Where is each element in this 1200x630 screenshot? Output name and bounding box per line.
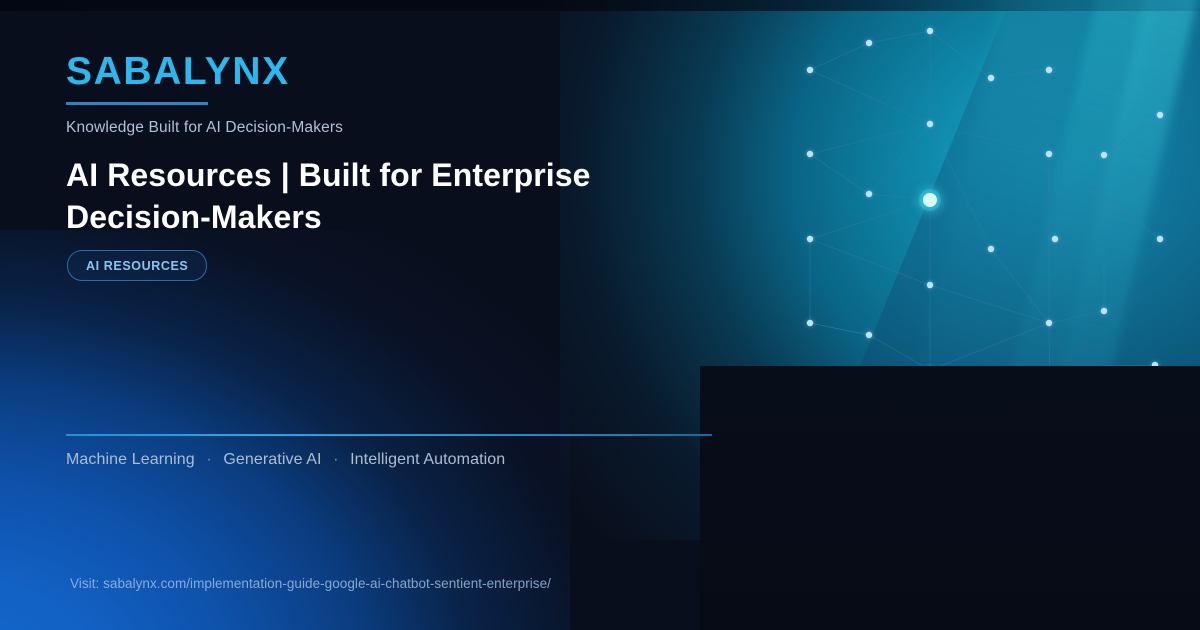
network-link <box>1049 311 1104 323</box>
network-node <box>866 191 872 197</box>
network-node <box>927 282 933 288</box>
og-card: SABALYNX Knowledge Built for AI Decision… <box>0 0 1200 630</box>
topic-item-2: Intelligent Automation <box>350 451 505 468</box>
network-link <box>991 70 1049 78</box>
network-node <box>988 246 994 252</box>
network-node <box>1157 112 1163 118</box>
visit-url: Visit: sabalynx.com/implementation-guide… <box>70 576 551 591</box>
brand-block: SABALYNX Knowledge Built for AI Decision… <box>66 52 343 137</box>
category-badge: AI RESOURCES <box>67 250 207 281</box>
network-link <box>991 249 1049 323</box>
network-node <box>807 67 813 73</box>
network-node <box>1046 320 1052 326</box>
network-node <box>807 151 813 157</box>
network-link <box>930 323 1049 370</box>
topic-item-1: Generative AI <box>223 451 321 468</box>
topic-list: Machine Learning · Generative AI · Intel… <box>66 451 505 469</box>
network-node <box>1157 236 1163 242</box>
network-hub-node <box>923 193 937 207</box>
page-title: AI Resources | Built for Enterprise Deci… <box>66 155 686 239</box>
network-node <box>927 28 933 34</box>
network-node <box>866 332 872 338</box>
brand-underline <box>66 102 208 105</box>
brand-name: SABALYNX <box>66 52 343 91</box>
content-column: SABALYNX Knowledge Built for AI Decision… <box>0 0 760 630</box>
topic-item-0: Machine Learning <box>66 451 195 468</box>
network-link <box>869 31 930 43</box>
network-node <box>807 320 813 326</box>
network-link <box>930 124 1049 154</box>
network-link <box>1104 115 1160 155</box>
network-node <box>1046 67 1052 73</box>
network-node <box>988 75 994 81</box>
network-link <box>810 323 869 335</box>
network-node <box>807 236 813 242</box>
network-node <box>1101 152 1107 158</box>
background-floor <box>700 366 1200 630</box>
network-link <box>810 43 869 70</box>
network-node <box>1046 151 1052 157</box>
network-link <box>1049 154 1160 239</box>
network-link <box>1049 154 1104 155</box>
network-link <box>810 239 930 285</box>
brand-tagline: Knowledge Built for AI Decision-Makers <box>66 119 343 137</box>
network-link <box>930 285 1049 323</box>
network-node <box>1052 236 1058 242</box>
section-divider <box>66 434 712 436</box>
topic-separator-1: · <box>326 451 345 468</box>
network-link <box>810 124 930 154</box>
network-link <box>810 70 930 124</box>
network-link <box>869 335 930 370</box>
topic-separator-0: · <box>199 451 218 468</box>
network-link <box>810 154 869 194</box>
network-node <box>866 40 872 46</box>
network-link <box>930 31 991 78</box>
network-node <box>1101 308 1107 314</box>
network-node <box>927 121 933 127</box>
